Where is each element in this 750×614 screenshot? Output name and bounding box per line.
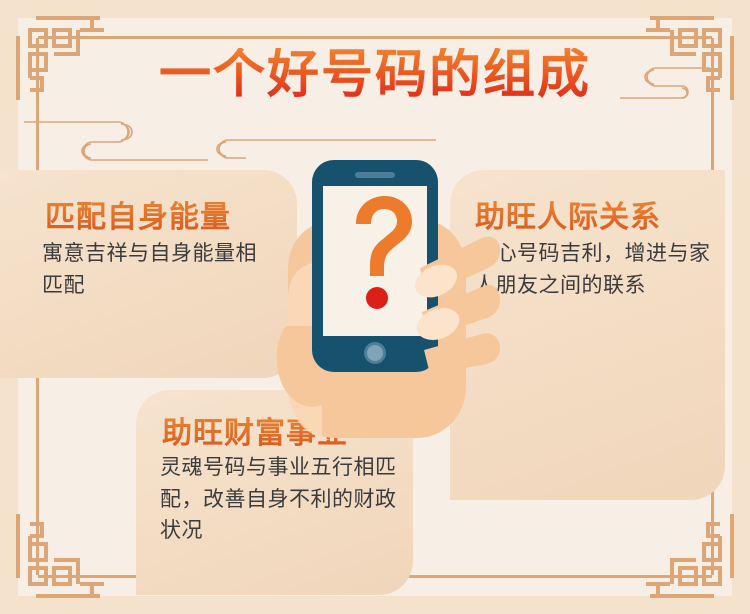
card-match-energy: 匹配自身能量 寓意吉祥与自身能量相匹配 [0, 170, 297, 378]
infographic-poster: 一个好号码的组成 匹配自身能量 [0, 0, 750, 614]
fret-corner-bottom-left-icon [14, 510, 104, 600]
phone-home-button-inner [367, 345, 383, 361]
hand-holding-phone-illustration [270, 150, 500, 470]
phone-speaker [355, 172, 395, 178]
card-body-text: 核心号码吉利，增进与家人朋友之间的联系 [474, 238, 712, 301]
cloud-scroll-top-right-icon [598, 56, 728, 104]
card-heading: 匹配自身能量 [45, 192, 231, 236]
fret-corner-bottom-right-icon [646, 510, 736, 600]
frame-line-top [38, 36, 712, 39]
card-heading: 助旺人际关系 [475, 192, 661, 236]
card-body-text: 寓意吉祥与自身能量相匹配 [42, 238, 267, 301]
